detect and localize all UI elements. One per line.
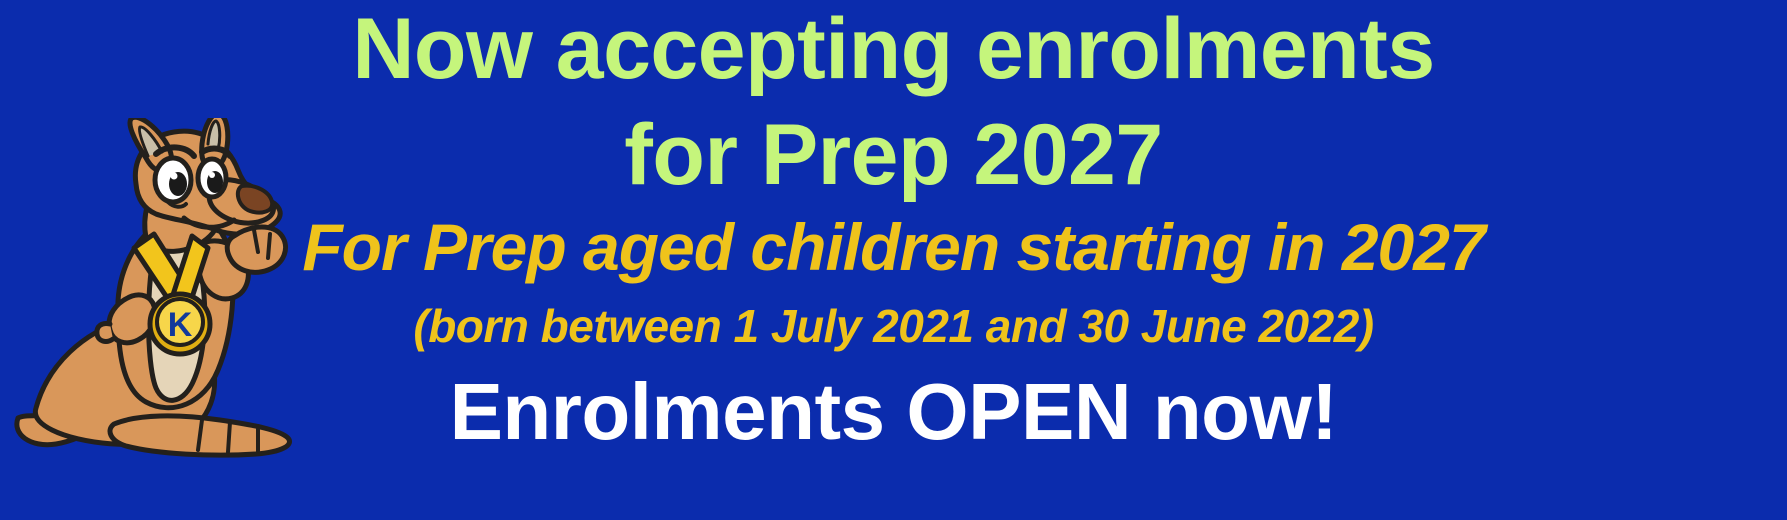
eligibility-note: (born between 1 July 2021 and 30 June 20… (0, 303, 1787, 349)
enrolment-banner: K Now accepting enrolments for Prep 2027… (0, 0, 1787, 520)
subheadline: For Prep aged children starting in 2027 (0, 214, 1787, 280)
headline-line-1: Now accepting enrolments (0, 6, 1787, 92)
headline-line-2: for Prep 2027 (0, 112, 1787, 198)
cta-text: Enrolments OPEN now! (0, 372, 1787, 452)
banner-text-stack: Now accepting enrolments for Prep 2027 F… (0, 0, 1787, 520)
